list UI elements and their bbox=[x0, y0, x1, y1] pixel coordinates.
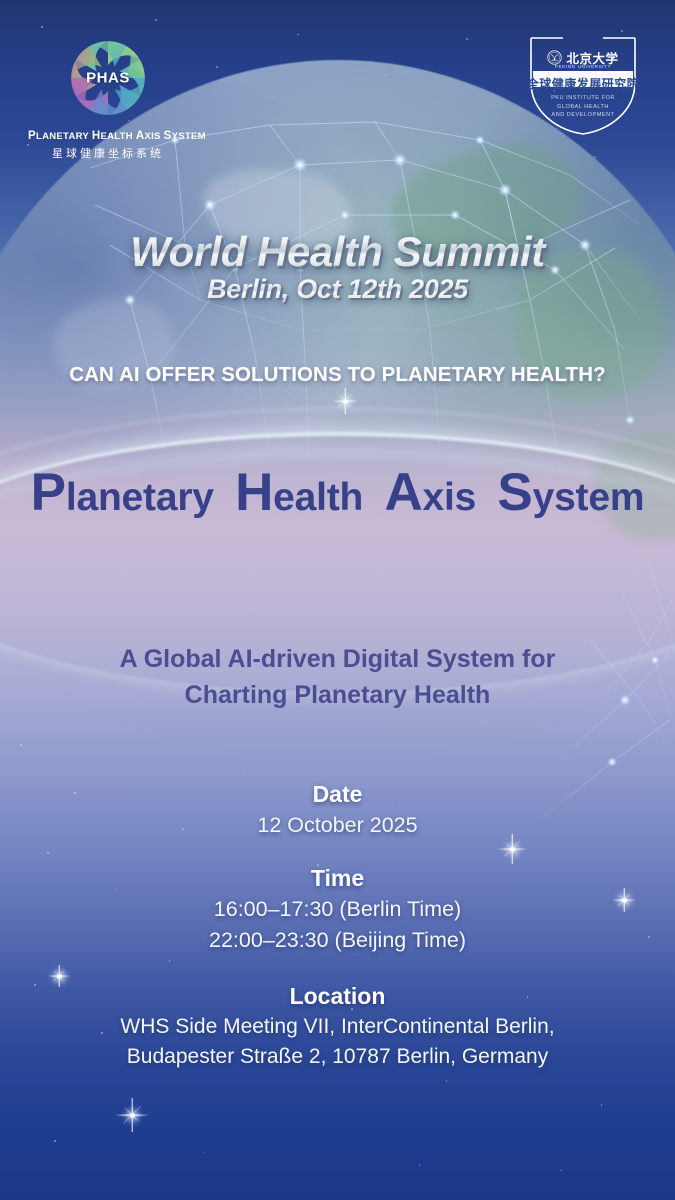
pku-institute-en-line: AND DEVELOPMENT bbox=[517, 111, 649, 120]
poster-tagline: A Global AI-driven Digital System for Ch… bbox=[0, 642, 675, 713]
time-value-berlin: 16:00–17:30 (Berlin Time) bbox=[0, 894, 675, 925]
location-value-line-1: WHS Side Meeting VII, InterContinental B… bbox=[0, 1012, 675, 1042]
system-name-heading: Planetary Health Axis System bbox=[0, 462, 675, 523]
pku-university-en: PEKING UNIVERSITY bbox=[517, 64, 649, 69]
pku-institute-en-line: PKU INSTITUTE FOR bbox=[517, 94, 649, 103]
time-value-beijing: 22:00–23:30 (Beijing Time) bbox=[0, 925, 675, 956]
time-label: Time bbox=[0, 865, 675, 892]
detail-date: Date 12 October 2025 bbox=[0, 781, 675, 841]
peking-university-seal-icon bbox=[547, 50, 562, 65]
phas-logo: PHAS PLANETARY HEALTH AXIS SYSTEM 星球健康坐标… bbox=[28, 32, 188, 161]
pku-institute-cn: 全球健康发展研究院 bbox=[517, 75, 649, 92]
pku-logo: 北京大学 PEKING UNIVERSITY 全球健康发展研究院 PKU INS… bbox=[513, 34, 653, 138]
summit-title-block: World Health Summit Berlin, Oct 12th 202… bbox=[0, 228, 675, 305]
poster-question: CAN AI OFFER SOLUTIONS TO PLANETARY HEAL… bbox=[0, 363, 675, 387]
tagline-line-1: A Global AI-driven Digital System for bbox=[0, 642, 675, 678]
pku-institute-en-line: GLOBAL HEALTH bbox=[517, 103, 649, 112]
summit-subtitle: Berlin, Oct 12th 2025 bbox=[0, 274, 675, 305]
date-value: 12 October 2025 bbox=[0, 810, 675, 841]
detail-location: Location WHS Side Meeting VII, InterCont… bbox=[0, 983, 675, 1073]
summit-title: World Health Summit bbox=[0, 228, 675, 276]
location-label: Location bbox=[0, 983, 675, 1010]
detail-time: Time 16:00–17:30 (Berlin Time) 22:00–23:… bbox=[0, 865, 675, 956]
phas-ring-icon: PHAS bbox=[62, 32, 154, 124]
event-poster: PHAS PLANETARY HEALTH AXIS SYSTEM 星球健康坐标… bbox=[0, 0, 675, 1200]
location-value-line-2: Budapester Straße 2, 10787 Berlin, Germa… bbox=[0, 1042, 675, 1072]
poster-content: PHAS PLANETARY HEALTH AXIS SYSTEM 星球健康坐标… bbox=[0, 0, 675, 1200]
tagline-line-2: Charting Planetary Health bbox=[0, 678, 675, 714]
phas-chinese-name: 星球健康坐标系统 bbox=[28, 145, 188, 161]
phas-acronym: PHAS bbox=[62, 70, 154, 87]
pku-institute-en: PKU INSTITUTE FOR GLOBAL HEALTH AND DEVE… bbox=[517, 94, 649, 120]
phas-english-name: PLANETARY HEALTH AXIS SYSTEM bbox=[28, 130, 188, 142]
event-details: Date 12 October 2025 Time 16:00–17:30 (B… bbox=[0, 781, 675, 1072]
date-label: Date bbox=[0, 781, 675, 808]
